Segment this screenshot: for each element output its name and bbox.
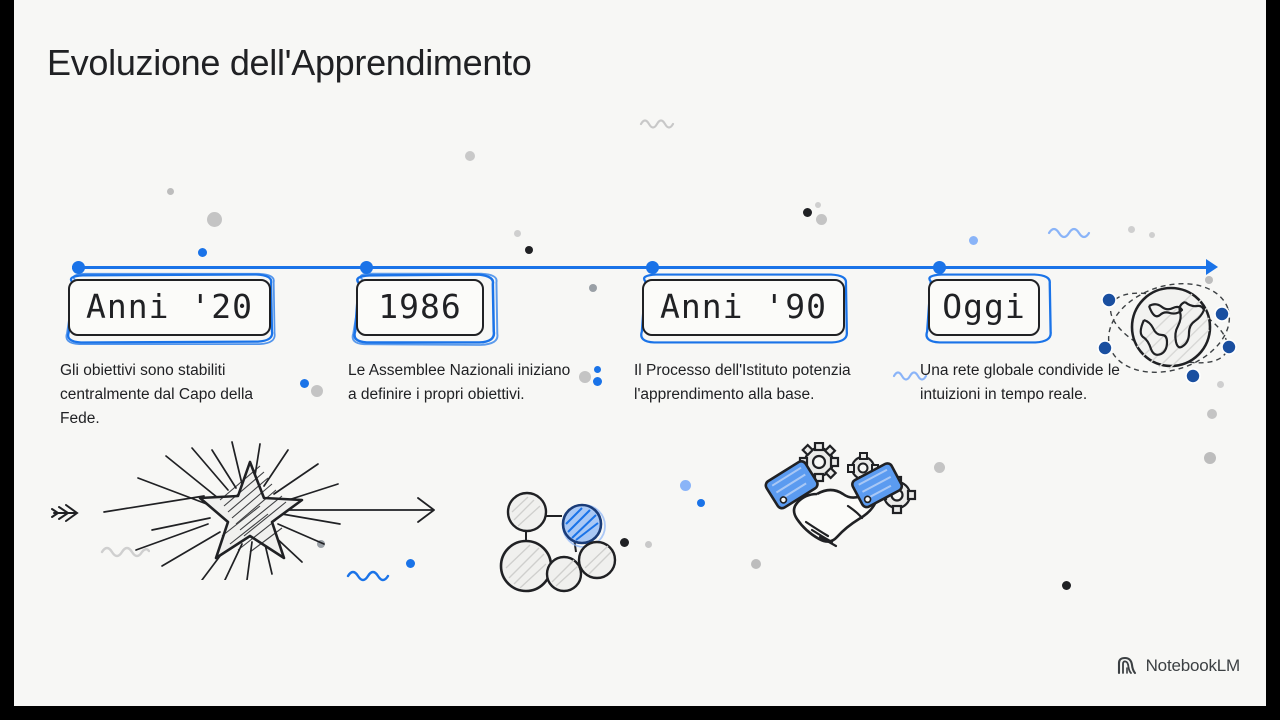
decor-dot xyxy=(816,214,827,225)
decor-dot xyxy=(317,540,325,548)
timeline-arrowhead xyxy=(1206,259,1218,275)
page-title: Evoluzione dell'Apprendimento xyxy=(47,42,532,84)
gear-icon xyxy=(848,453,878,483)
milestone-description-1: Le Assemblee Nazionali iniziano a defini… xyxy=(348,359,576,407)
double-chevron-arrow-icon xyxy=(50,500,84,526)
milestone-0: Anni '20 Gli obiettivi sono stabiliti ce… xyxy=(60,272,310,431)
network-circles-icon xyxy=(496,490,622,598)
decor-dot xyxy=(815,202,821,208)
decor-dot xyxy=(465,151,475,161)
milestone-label-1: 1986 xyxy=(356,279,484,336)
handshake-gears-icon xyxy=(762,442,932,548)
milestone-description-0: Gli obiettivi sono stabiliti centralment… xyxy=(60,359,295,431)
decor-dot xyxy=(645,541,652,548)
notebooklm-logo-icon xyxy=(1116,656,1138,676)
milestone-description-3: Una rete globale condivide le intuizioni… xyxy=(920,359,1170,407)
decor-dot xyxy=(406,559,415,568)
decor-dot xyxy=(751,559,761,569)
squiggle-icon xyxy=(639,114,679,130)
decor-dot xyxy=(1207,409,1217,419)
star-burst-icon xyxy=(92,440,452,580)
decor-dot xyxy=(1062,581,1071,590)
decor-dot xyxy=(697,499,705,507)
milestone-label-box-2[interactable]: Anni '90 xyxy=(634,272,853,345)
footer-brand-text: NotebookLM xyxy=(1146,656,1240,676)
milestone-label-box-3[interactable]: Oggi xyxy=(920,272,1056,345)
decor-dot xyxy=(514,230,521,237)
gear-icon xyxy=(800,443,838,481)
footer-brand: NotebookLM xyxy=(1116,656,1240,676)
milestone-label-3: Oggi xyxy=(928,279,1040,336)
decor-dot xyxy=(311,385,323,397)
milestone-description-2: Il Processo dell'Istituto potenzia l'app… xyxy=(634,359,882,407)
decor-dot xyxy=(803,208,812,217)
milestone-label-box-1[interactable]: 1986 xyxy=(348,272,500,345)
milestone-label-0: Anni '20 xyxy=(68,279,271,336)
squiggle-icon xyxy=(346,565,392,583)
gear-icon xyxy=(879,477,915,513)
squiggle-icon xyxy=(1047,222,1093,240)
decor-dot xyxy=(1128,226,1135,233)
decor-dot xyxy=(680,480,691,491)
squiggle-icon xyxy=(100,541,150,559)
milestone-label-2: Anni '90 xyxy=(642,279,845,336)
decor-dot xyxy=(207,212,222,227)
decor-dot xyxy=(1149,232,1155,238)
decor-dot xyxy=(1204,452,1216,464)
decor-dot xyxy=(969,236,978,245)
milestone-1: 1986 Le Assemblee Nazionali iniziano a d… xyxy=(348,272,598,407)
decor-dot xyxy=(934,462,945,473)
milestone-label-box-0[interactable]: Anni '20 xyxy=(60,272,279,345)
decor-dot xyxy=(167,188,174,195)
slide-canvas: Evoluzione dell'Apprendimento xyxy=(14,0,1266,706)
timeline-line xyxy=(72,266,1214,269)
decor-dot xyxy=(1217,381,1224,388)
decor-dot xyxy=(620,538,629,547)
milestone-2: Anni '90 Il Processo dell'Istituto poten… xyxy=(634,272,894,407)
milestone-3: Oggi Una rete globale condivide le intui… xyxy=(920,272,1180,407)
